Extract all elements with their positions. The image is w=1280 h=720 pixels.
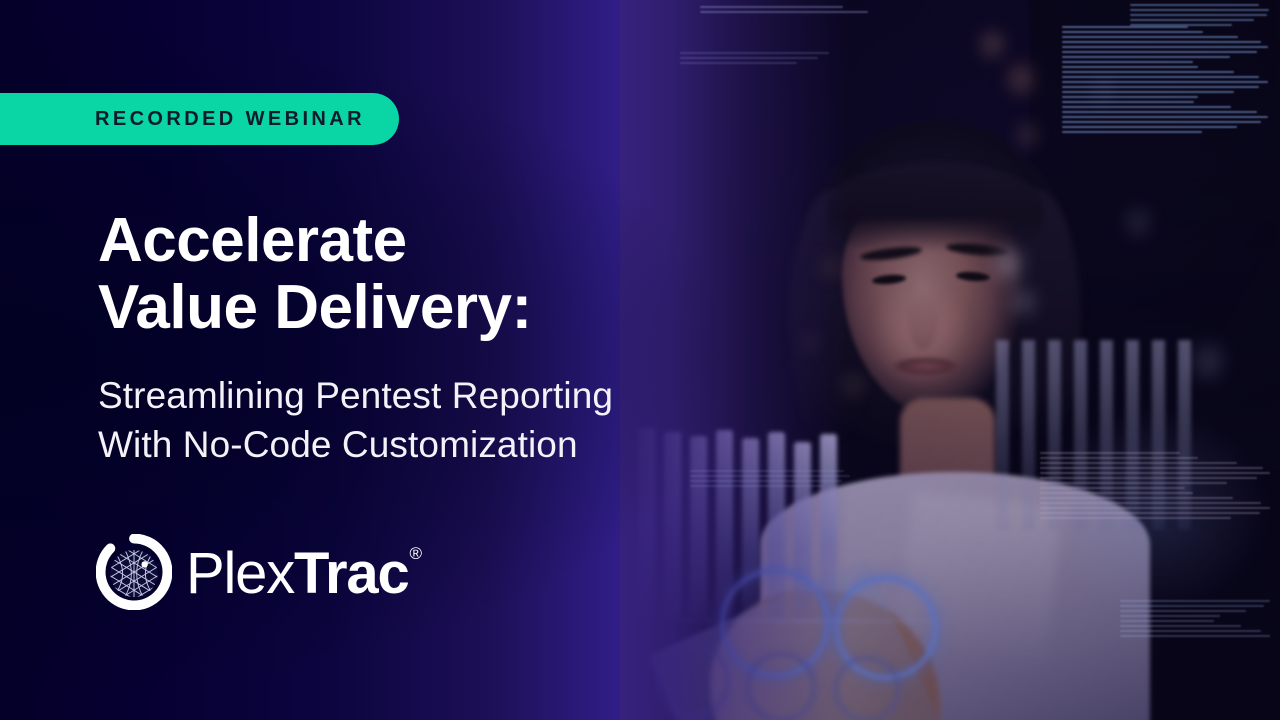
page-title: Accelerate Value Delivery:	[98, 208, 738, 342]
registered-mark: ®	[410, 544, 421, 563]
plextrac-mark-icon	[96, 534, 172, 610]
wordmark-trac: Trac	[294, 541, 409, 606]
headline-line-1: Accelerate	[98, 206, 407, 275]
plextrac-logo: PlexTrac®	[96, 534, 420, 610]
recorded-webinar-badge: RECORDED WEBINAR	[0, 93, 399, 145]
subtitle-line-2: With No-Code Customization	[98, 421, 758, 470]
headline-line-2: Value Delivery:	[98, 275, 738, 342]
badge-label: RECORDED WEBINAR	[95, 108, 365, 131]
plextrac-wordmark: PlexTrac®	[186, 545, 420, 603]
wordmark-plex: Plex	[186, 541, 294, 606]
page-subtitle: Streamlining Pentest Reporting With No-C…	[98, 372, 758, 470]
webinar-title-card: RECORDED WEBINAR Accelerate Value Delive…	[0, 0, 1280, 720]
subtitle-line-1: Streamlining Pentest Reporting	[98, 375, 613, 416]
